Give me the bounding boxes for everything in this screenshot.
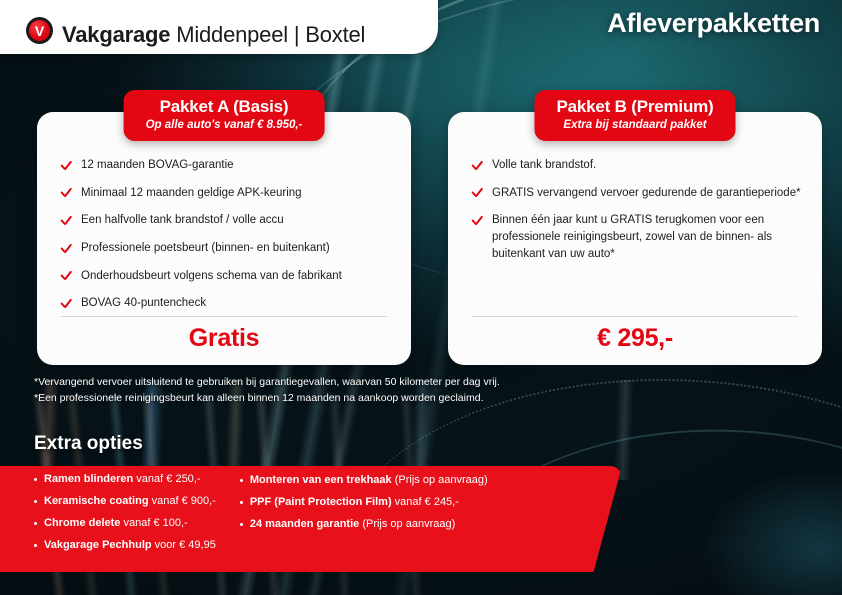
list-item-label: Keramische coating vanaf € 900,- (44, 494, 216, 509)
bullet-icon (34, 478, 37, 481)
package-b-badge: Pakket B (Premium) Extra bij standaard p… (534, 90, 735, 141)
vakgarage-logo-icon: V (26, 17, 53, 44)
option-detail: (Prijs op aanvraag) (359, 518, 455, 530)
list-item-label: Volle tank brandstof. (492, 157, 596, 174)
option-detail: vanaf € 900,- (149, 495, 216, 507)
list-item-label: GRATIS vervangend vervoer gedurende de g… (492, 185, 801, 202)
check-icon (470, 158, 483, 171)
check-icon (59, 241, 72, 254)
check-icon (59, 213, 72, 226)
list-item: PPF (Paint Protection Film) vanaf € 245,… (240, 495, 488, 510)
package-a-badge: Pakket A (Basis) Op alle auto's vanaf € … (124, 90, 325, 141)
header-bar: V Vakgarage Middenpeel | Boxtel (0, 0, 438, 54)
extra-options-column-1: Ramen blinderen vanaf € 250,- Keramische… (34, 472, 216, 559)
list-item: Minimaal 12 maanden geldige APK-keuring (59, 185, 395, 202)
list-item-label: BOVAG 40-puntencheck (81, 295, 206, 312)
option-name: Chrome delete (44, 517, 120, 529)
list-item: Ramen blinderen vanaf € 250,- (34, 472, 216, 487)
brand-name: Vakgarage Middenpeel | Boxtel (62, 23, 365, 46)
list-item: Chrome delete vanaf € 100,- (34, 516, 216, 531)
brand-name-light: Middenpeel | Boxtel (170, 22, 365, 47)
package-b-subtitle: Extra bij standaard pakket (556, 118, 713, 133)
option-name: Monteren van een trekhaak (250, 474, 392, 486)
option-name: PPF (Paint Protection Film) (250, 496, 392, 508)
list-item-label: 24 maanden garantie (Prijs op aanvraag) (250, 517, 455, 532)
divider (61, 316, 387, 317)
list-item: Een halfvolle tank brandstof / volle acc… (59, 212, 395, 229)
list-item-label: Onderhoudsbeurt volgens schema van de fa… (81, 268, 342, 285)
option-name: 24 maanden garantie (250, 518, 359, 530)
bullet-icon (240, 523, 243, 526)
extra-options-columns: Ramen blinderen vanaf € 250,- Keramische… (34, 472, 488, 559)
bullet-icon (34, 544, 37, 547)
list-item: Onderhoudsbeurt volgens schema van de fa… (59, 268, 395, 285)
logo-letter: V (29, 20, 50, 41)
package-b-feature-list: Volle tank brandstof. GRATIS vervangend … (470, 157, 806, 273)
list-item-label: Een halfvolle tank brandstof / volle acc… (81, 212, 284, 229)
option-detail: vanaf € 245,- (392, 496, 459, 508)
list-item: Keramische coating vanaf € 900,- (34, 494, 216, 509)
poster-canvas: V Vakgarage Middenpeel | Boxtel Afleverp… (0, 0, 842, 595)
brand-name-bold: Vakgarage (62, 22, 170, 47)
footnote-1: *Vervangend vervoer uitsluitend te gebru… (34, 374, 500, 390)
option-detail: vanaf € 100,- (120, 517, 187, 529)
list-item-label: 12 maanden BOVAG-garantie (81, 157, 234, 174)
list-item: Vakgarage Pechhulp voor € 49,95 (34, 538, 216, 553)
list-item-label: Ramen blinderen vanaf € 250,- (44, 472, 201, 487)
check-icon (59, 296, 72, 309)
bullet-icon (34, 500, 37, 503)
option-detail: vanaf € 250,- (133, 473, 200, 485)
list-item-label: PPF (Paint Protection Film) vanaf € 245,… (250, 495, 459, 510)
list-item: Professionele poetsbeurt (binnen- en bui… (59, 240, 395, 257)
package-b-title: Pakket B (Premium) (556, 97, 713, 117)
list-item: Binnen één jaar kunt u GRATIS terugkomen… (470, 212, 806, 262)
list-item: BOVAG 40-puntencheck (59, 295, 395, 312)
option-detail: (Prijs op aanvraag) (392, 474, 488, 486)
list-item: 24 maanden garantie (Prijs op aanvraag) (240, 517, 488, 532)
option-detail: voor € 49,95 (152, 539, 216, 551)
list-item-label: Minimaal 12 maanden geldige APK-keuring (81, 185, 302, 202)
list-item: Volle tank brandstof. (470, 157, 806, 174)
package-card-b: Pakket B (Premium) Extra bij standaard p… (448, 112, 822, 365)
check-icon (59, 186, 72, 199)
list-item-label: Binnen één jaar kunt u GRATIS terugkomen… (492, 212, 806, 262)
list-item: Monteren van een trekhaak (Prijs op aanv… (240, 473, 488, 488)
page-title: Afleverpakketten (607, 8, 820, 39)
package-a-feature-list: 12 maanden BOVAG-garantie Minimaal 12 ma… (59, 157, 395, 323)
footnote-2: *Een professionele reinigingsbeurt kan a… (34, 390, 500, 406)
list-item-label: Vakgarage Pechhulp voor € 49,95 (44, 538, 216, 553)
package-a-price: Gratis (37, 324, 411, 353)
footnotes: *Vervangend vervoer uitsluitend te gebru… (34, 374, 500, 407)
check-icon (59, 158, 72, 171)
extra-options-title: Extra opties (34, 433, 143, 455)
check-icon (470, 186, 483, 199)
package-a-title: Pakket A (Basis) (146, 97, 303, 117)
option-name: Keramische coating (44, 495, 149, 507)
bullet-icon (34, 522, 37, 525)
option-name: Ramen blinderen (44, 473, 133, 485)
bullet-icon (240, 479, 243, 482)
extra-options-column-2: Monteren van een trekhaak (Prijs op aanv… (240, 472, 488, 559)
divider (472, 316, 798, 317)
package-b-price: € 295,- (448, 324, 822, 353)
list-item-label: Chrome delete vanaf € 100,- (44, 516, 188, 531)
check-icon (59, 269, 72, 282)
list-item-label: Professionele poetsbeurt (binnen- en bui… (81, 240, 330, 257)
list-item: GRATIS vervangend vervoer gedurende de g… (470, 185, 806, 202)
package-card-a: Pakket A (Basis) Op alle auto's vanaf € … (37, 112, 411, 365)
list-item-label: Monteren van een trekhaak (Prijs op aanv… (250, 473, 488, 488)
list-item: 12 maanden BOVAG-garantie (59, 157, 395, 174)
check-icon (470, 213, 483, 226)
bullet-icon (240, 501, 243, 504)
package-a-subtitle: Op alle auto's vanaf € 8.950,- (146, 118, 303, 133)
option-name: Vakgarage Pechhulp (44, 539, 152, 551)
